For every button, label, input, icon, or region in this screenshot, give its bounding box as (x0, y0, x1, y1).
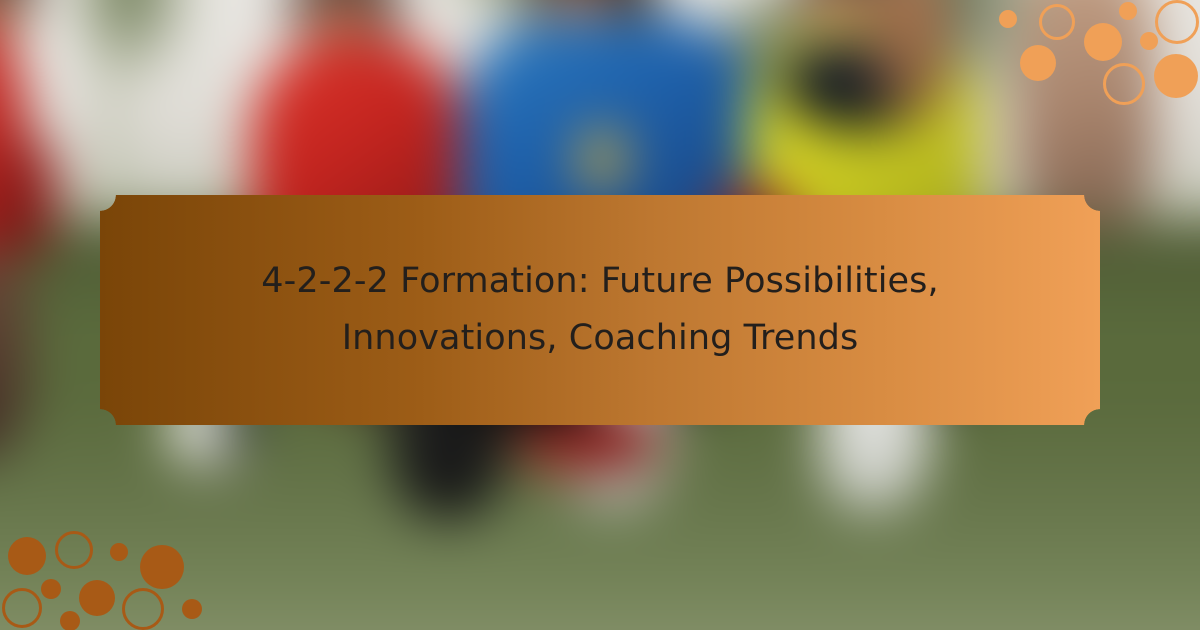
foliage-patch (70, 0, 190, 80)
title-banner: 4-2-2-2 Formation: Future Possibilities,… (100, 195, 1100, 425)
title-card: 4-2-2-2 Formation: Future Possibilities,… (0, 0, 1200, 630)
goal-post (108, 0, 118, 220)
player-yellow-arm (874, 0, 950, 116)
page-title: 4-2-2-2 Formation: Future Possibilities,… (100, 253, 1100, 366)
player-blue-badge (580, 130, 624, 188)
player-red-left-arm (0, 134, 58, 254)
